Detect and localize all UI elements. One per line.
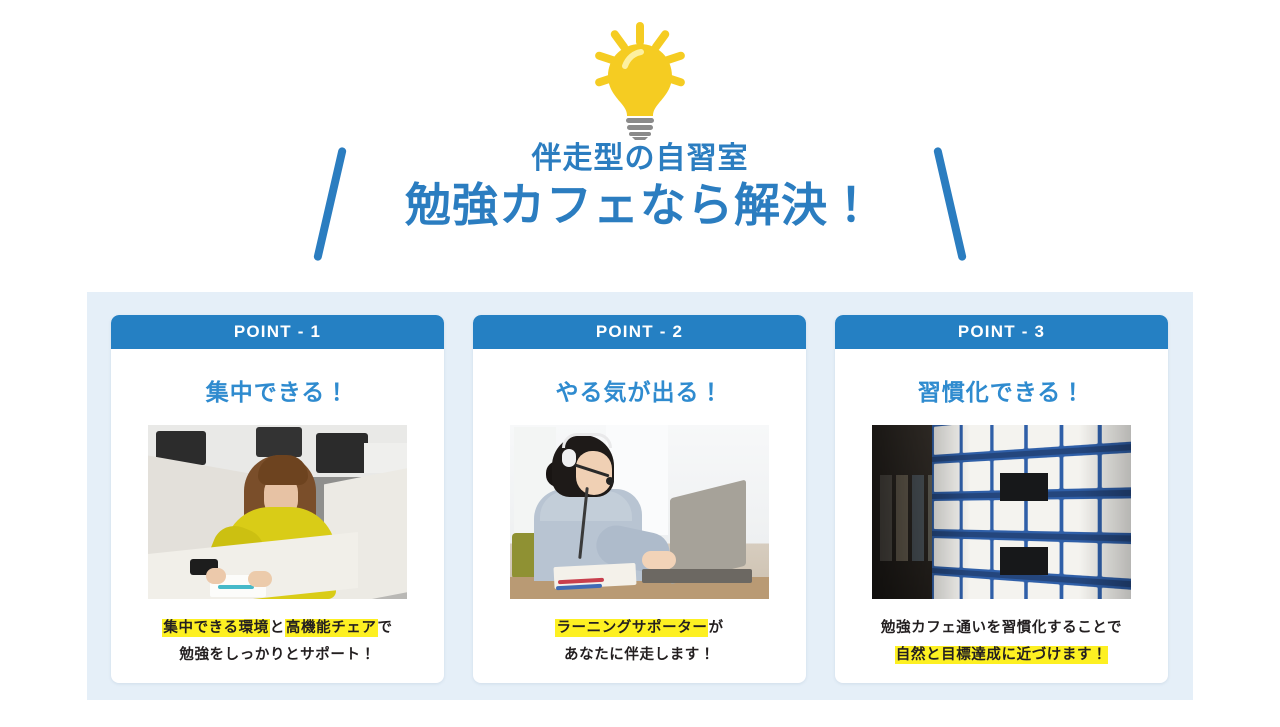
caption-line-1: ラーニングサポーターが [490,615,790,642]
point-caption-2: ラーニングサポーターが あなたに伴走します！ [490,615,790,669]
caption-line-1: 勉強カフェ通いを習慣化することで [852,615,1152,642]
hero-subtitle: 伴走型の自習室 [320,142,960,175]
point-title-2: やる気が出る！ [556,373,724,407]
point-card-2[interactable]: POINT - 2 やる気が出る！ [473,315,806,683]
caption-line-2: 勉強をしっかりとサポート！ [128,642,428,669]
caption-line-2: 自然と目標達成に近づけます！ [852,642,1152,669]
lightbulb-icon [570,22,710,140]
hero-title: 勉強カフェなら解決！ [320,179,960,232]
point-image-1 [148,425,407,599]
point-image-2 [510,425,769,599]
point-caption-1: 集中できる環境と高機能チェアで 勉強をしっかりとサポート！ [128,615,428,669]
caption-highlight: 自然と目標達成に近づけます！ [895,646,1108,664]
point-badge-3: POINT - 3 [835,315,1168,349]
point-badge-1: POINT - 1 [111,315,444,349]
caption-highlight: ラーニングサポーター [555,619,708,637]
point-badge-2: POINT - 2 [473,315,806,349]
point-card-1[interactable]: POINT - 1 集中できる！ [111,315,444,683]
caption-plain: と [270,620,285,636]
caption-plain: あなたに伴走します！ [564,647,715,663]
caption-plain: 勉強カフェ通いを習慣化することで [881,620,1122,636]
hero-section: 伴走型の自習室 勉強カフェなら解決！ [0,0,1280,292]
points-card-row: POINT - 1 集中できる！ [111,315,1169,683]
point-card-3[interactable]: POINT - 3 習慣化できる！ [835,315,1168,683]
caption-plain: で [378,620,393,636]
point-image-3 [872,425,1131,599]
caption-line-2: あなたに伴走します！ [490,642,790,669]
hero-headline: 伴走型の自習室 勉強カフェなら解決！ [320,138,960,268]
caption-plain: 勉強をしっかりとサポート！ [179,647,375,663]
caption-plain: が [708,620,723,636]
caption-line-1: 集中できる環境と高機能チェアで [128,615,428,642]
caption-highlight: 高機能チェア [285,619,378,637]
point-caption-3: 勉強カフェ通いを習慣化することで 自然と目標達成に近づけます！ [852,615,1152,669]
points-panel: POINT - 1 集中できる！ [87,292,1193,700]
caption-highlight: 集中できる環境 [162,619,269,637]
point-title-1: 集中できる！ [206,373,350,407]
point-title-3: 習慣化できる！ [918,373,1086,407]
